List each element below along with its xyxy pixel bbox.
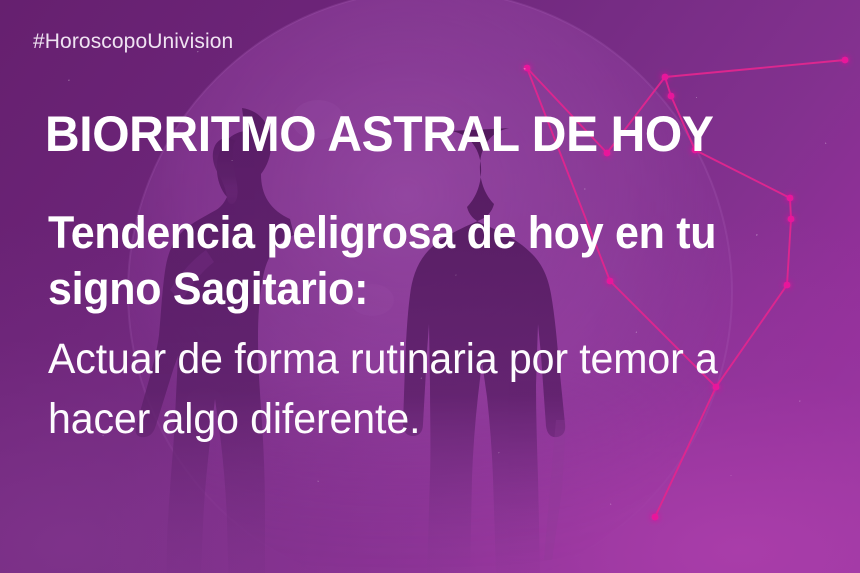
tendency-lead: Tendencia peligrosa de hoy en tu signo S… [48,205,802,317]
page-title: BIORRITMO ASTRAL DE HOY [45,108,714,160]
card-content: #HoroscopoUnivision BIORRITMO ASTRAL DE … [0,0,860,573]
tendency-detail: Actuar de forma rutinaria por temor a ha… [48,329,802,449]
horoscope-card: #HoroscopoUnivision BIORRITMO ASTRAL DE … [0,0,860,573]
horoscope-body: Tendencia peligrosa de hoy en tu signo S… [48,205,838,449]
hashtag-label: #HoroscopoUnivision [33,30,233,54]
